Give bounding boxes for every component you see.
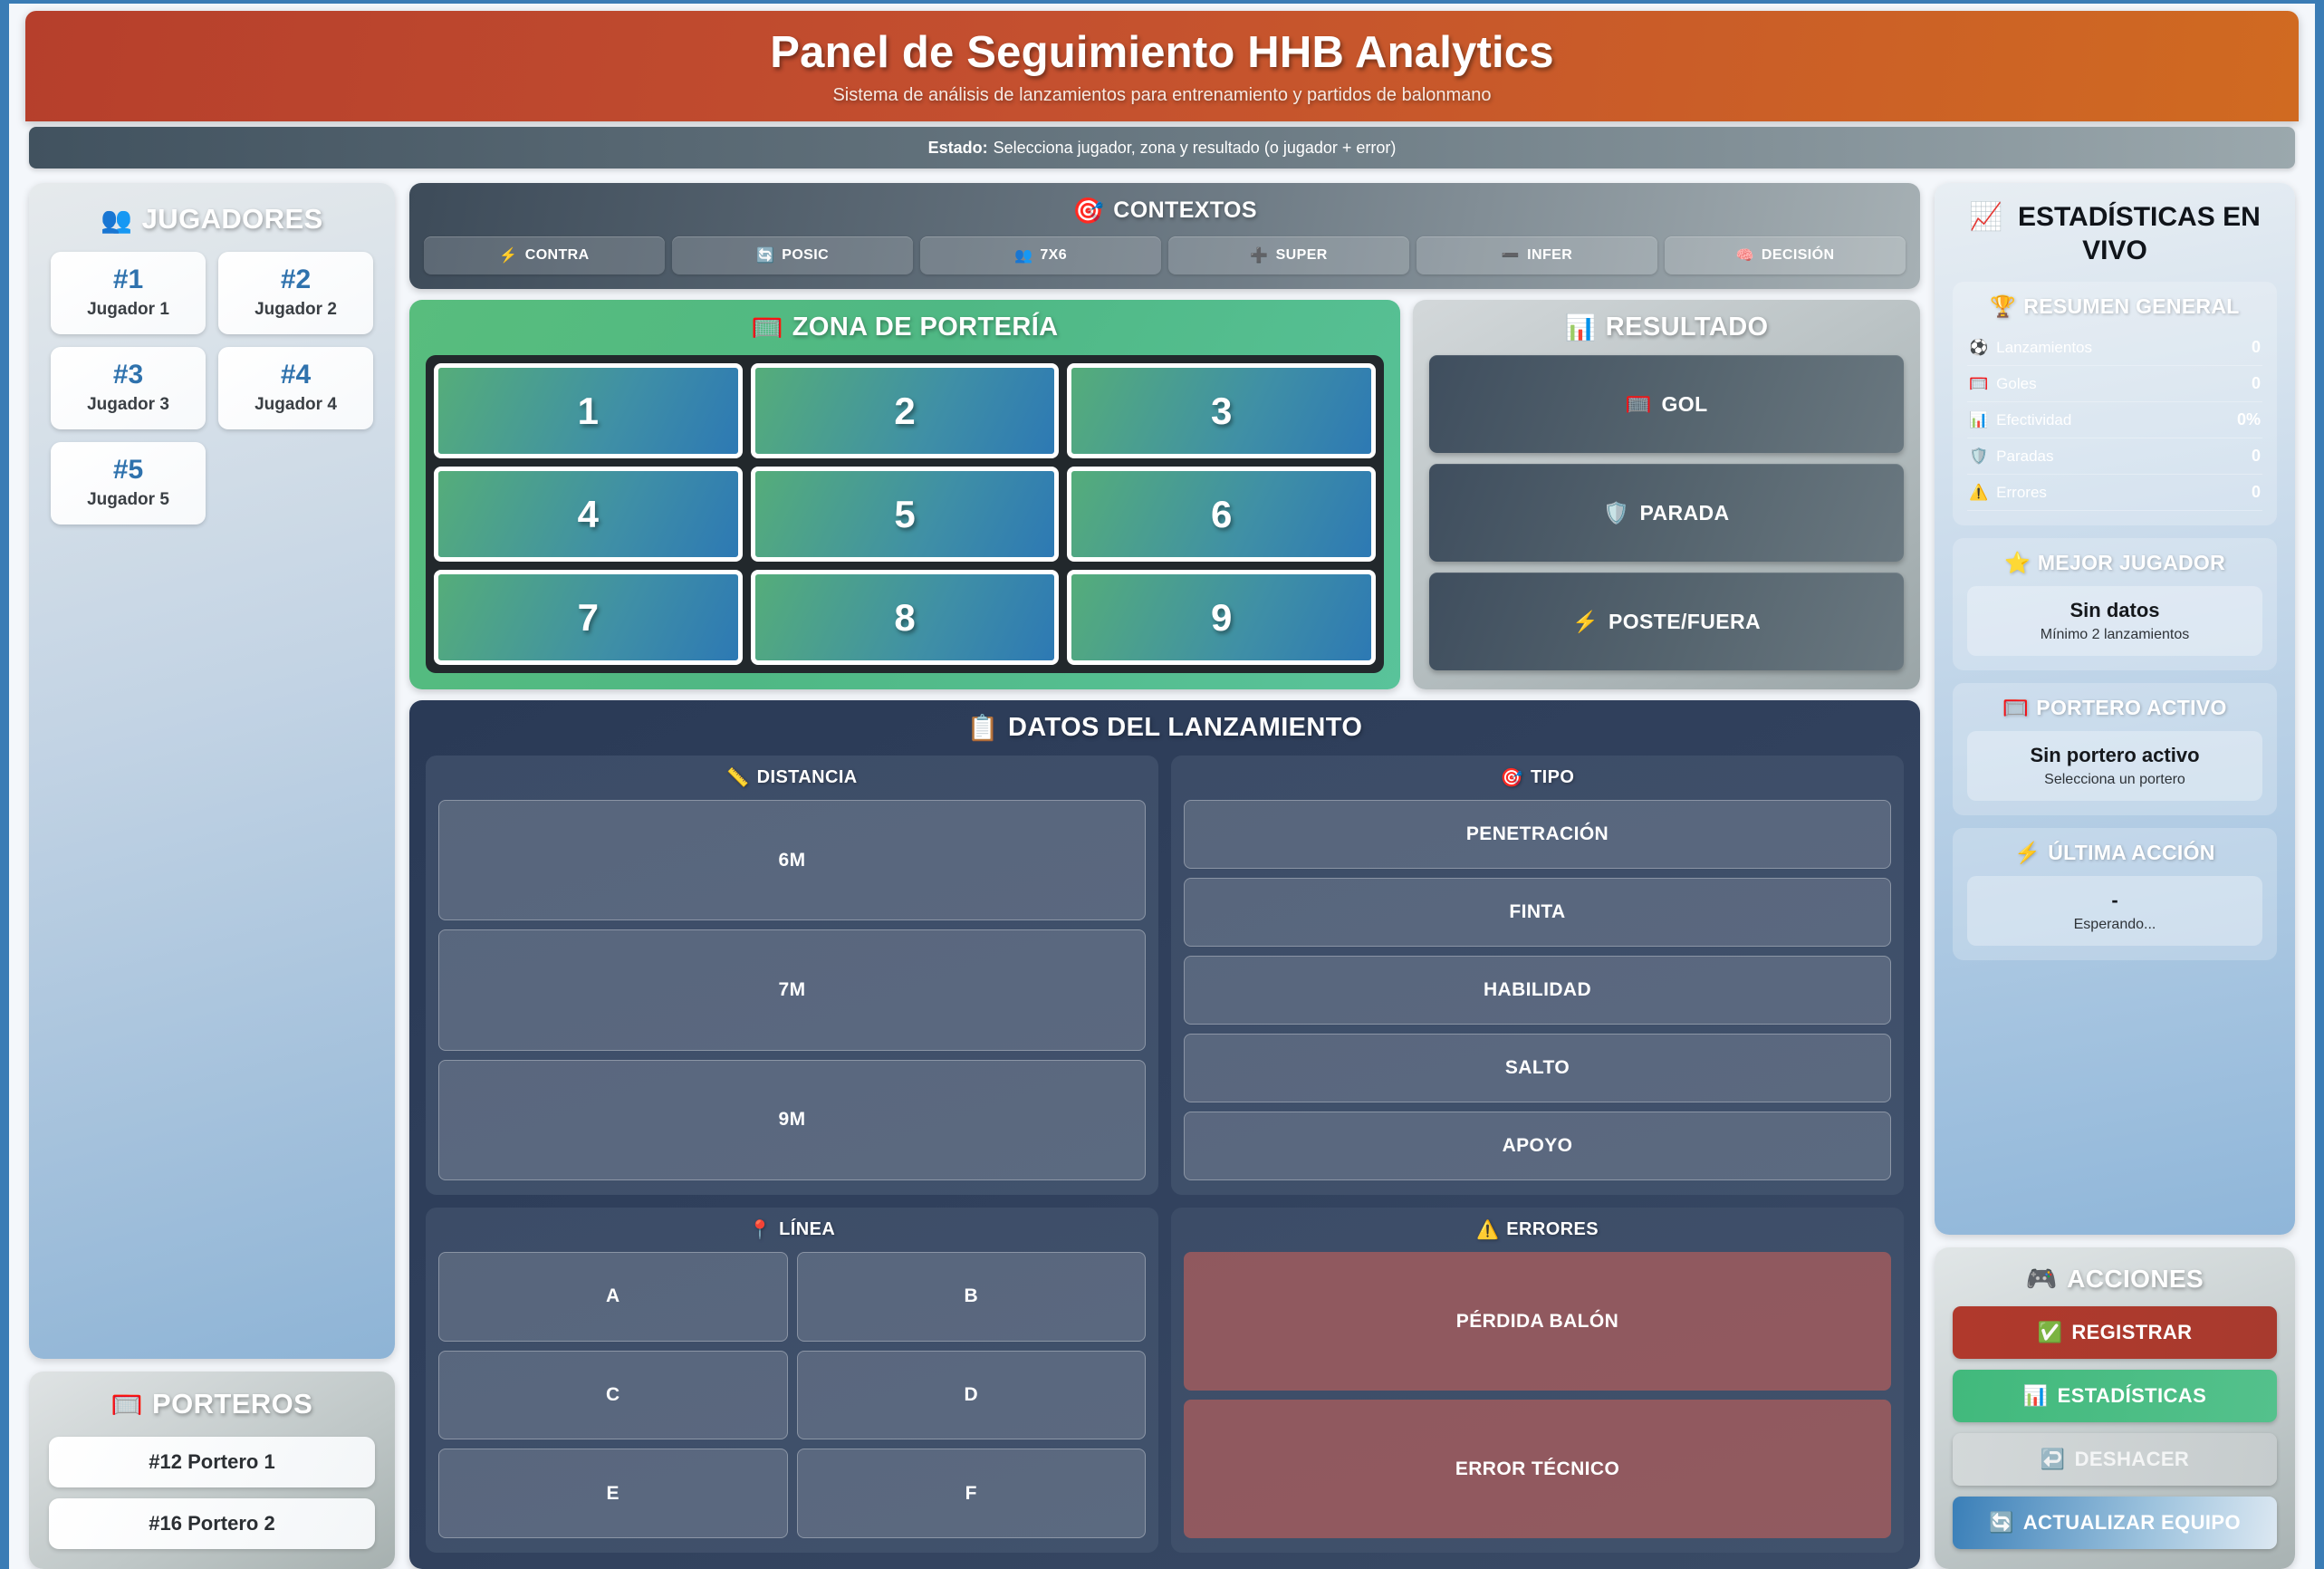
line-option-e[interactable]: E	[438, 1449, 788, 1538]
lightning-icon: ⚡	[1572, 610, 1599, 634]
result-label: PARADA	[1639, 501, 1729, 525]
errors-title-text: ERRORES	[1506, 1219, 1599, 1240]
main-layout: 👥 JUGADORES #1 Jugador 1 #2 Jugador 2 #3…	[9, 168, 2315, 1569]
people-icon: 👥	[101, 205, 132, 235]
players-grid: #1 Jugador 1 #2 Jugador 2 #3 Jugador 3 #…	[51, 252, 373, 525]
zone-cell-1[interactable]: 1	[434, 363, 743, 458]
active-keeper-card: 🥅 PORTERO ACTIVO Sin portero activo Sele…	[1953, 683, 2277, 815]
distance-option-6m[interactable]: 6M	[438, 800, 1146, 920]
keeper-button-2[interactable]: #16 Portero 2	[49, 1498, 375, 1549]
line-option-a[interactable]: A	[438, 1252, 788, 1342]
best-player-main: Sin datos	[1974, 599, 2255, 622]
live-stats-panel: 📈 ESTADÍSTICAS EN VIVO 🏆 RESUMEN GENERAL…	[1935, 183, 2295, 1235]
type-option-apoyo[interactable]: APOYO	[1184, 1112, 1891, 1180]
summary-title-text: RESUMEN GENERAL	[2023, 294, 2239, 319]
goal-grid: 1 2 3 4 5 6 7 8 9	[434, 363, 1376, 665]
app-header: Panel de Seguimiento HHB Analytics Siste…	[25, 11, 2299, 121]
stat-row-paradas: 🛡️ Paradas 0	[1967, 438, 2262, 475]
target-icon: 🎯	[1501, 766, 1523, 789]
undo-icon: ↩️	[2041, 1448, 2066, 1471]
summary-card: 🏆 RESUMEN GENERAL ⚽ Lanzamientos 0 🥅 Gol…	[1953, 282, 2277, 525]
best-player-sub: Mínimo 2 lanzamientos	[1974, 627, 2255, 643]
player-card-3[interactable]: #3 Jugador 3	[51, 347, 206, 429]
refresh-team-label: ACTUALIZAR EQUIPO	[2023, 1511, 2241, 1535]
error-option-perdida-balon[interactable]: PÉRDIDA BALÓN	[1184, 1252, 1891, 1391]
last-action-title-text: ÚLTIMA ACCIÓN	[2048, 841, 2214, 865]
left-sidebar: 👥 JUGADORES #1 Jugador 1 #2 Jugador 2 #3…	[29, 183, 395, 1569]
star-icon: ⭐	[2004, 551, 2031, 575]
gamepad-icon: 🎮	[2026, 1264, 2058, 1294]
players-title-text: JUGADORES	[142, 203, 323, 236]
active-keeper-title-text: PORTERO ACTIVO	[2036, 696, 2226, 720]
minus-icon: ➖	[1502, 246, 1520, 265]
errors-box: ⚠️ ERRORES PÉRDIDA BALÓN ERROR TÉCNICO	[1171, 1208, 1904, 1553]
zone-cell-3[interactable]: 3	[1067, 363, 1376, 458]
shot-data-title-text: DATOS DEL LANZAMIENTO	[1008, 713, 1362, 743]
player-number: #5	[56, 455, 200, 485]
line-box: 📍 LÍNEA A B C D E F	[426, 1208, 1158, 1553]
stat-row-goles: 🥅 Goles 0	[1967, 366, 2262, 402]
context-button-infer[interactable]: ➖ INFER	[1416, 236, 1657, 274]
goal-net-icon: 🥅	[752, 313, 783, 342]
bar-chart-icon: 📊	[1564, 313, 1596, 342]
refresh-icon: 🔄	[756, 246, 774, 265]
context-label: POSIC	[782, 247, 829, 264]
contexts-row: ⚡ CONTRA 🔄 POSIC 👥 7X6 ➕ SUPER ➖ INF	[424, 236, 1906, 274]
stat-row-lanzamientos: ⚽ Lanzamientos 0	[1967, 330, 2262, 366]
active-keeper-value: Sin portero activo Selecciona un portero	[1967, 731, 2262, 801]
zone-cell-8[interactable]: 8	[751, 570, 1060, 665]
goal-net-icon: 🥅	[111, 1390, 143, 1420]
stat-label: Lanzamientos	[1996, 339, 2092, 357]
result-label: POSTE/FUERA	[1609, 610, 1761, 634]
live-stats-title: 📈 ESTADÍSTICAS EN VIVO	[1953, 201, 2277, 267]
type-option-salto[interactable]: SALTO	[1184, 1034, 1891, 1102]
distance-option-9m[interactable]: 9M	[438, 1060, 1146, 1180]
distance-options: 6M 7M 9M	[438, 800, 1146, 1180]
player-name: Jugador 2	[224, 300, 368, 320]
zone-cell-5[interactable]: 5	[751, 467, 1060, 562]
best-player-title: ⭐ MEJOR JUGADOR	[1967, 551, 2262, 575]
last-action-sub: Esperando...	[1974, 917, 2255, 933]
type-title-text: TIPO	[1531, 767, 1574, 788]
refresh-icon: 🔄	[1989, 1511, 2014, 1535]
zone-cell-9[interactable]: 9	[1067, 570, 1376, 665]
distance-option-7m[interactable]: 7M	[438, 929, 1146, 1050]
errors-options: PÉRDIDA BALÓN ERROR TÉCNICO	[1184, 1252, 1891, 1538]
players-panel-title: 👥 JUGADORES	[51, 203, 373, 236]
goal-zone-title: 🥅 ZONA DE PORTERÍA	[426, 313, 1384, 342]
distance-title-text: DISTANCIA	[757, 767, 858, 788]
plus-icon: ➕	[1250, 246, 1268, 265]
best-player-title-text: MEJOR JUGADOR	[2038, 551, 2225, 575]
stat-value: 0%	[2237, 410, 2261, 429]
ball-icon: ⚽	[1969, 339, 1988, 357]
last-action-main: -	[1974, 889, 2255, 912]
stat-label: Efectividad	[1996, 411, 2071, 429]
line-option-b[interactable]: B	[797, 1252, 1147, 1342]
active-keeper-title: 🥅 PORTERO ACTIVO	[1967, 696, 2262, 720]
active-keeper-sub: Selecciona un portero	[1974, 772, 2255, 788]
zone-cell-4[interactable]: 4	[434, 467, 743, 562]
clipboard-icon: 📋	[967, 713, 999, 743]
context-label: 7X6	[1040, 247, 1067, 264]
error-option-error-tecnico[interactable]: ERROR TÉCNICO	[1184, 1400, 1891, 1538]
keepers-panel-title: 🥅 PORTEROS	[49, 1388, 375, 1420]
actions-title: 🎮 ACCIONES	[1953, 1264, 2277, 1294]
player-number: #3	[56, 360, 200, 390]
type-options: PENETRACIÓN FINTA HABILIDAD SALTO APOYO	[1184, 800, 1891, 1180]
goal-zone-panel: 🥅 ZONA DE PORTERÍA 1 2 3 4 5 6 7 8 9	[409, 300, 1400, 689]
distance-box: 📏 DISTANCIA 6M 7M 9M	[426, 756, 1158, 1195]
player-name: Jugador 1	[56, 300, 200, 320]
context-button-7x6[interactable]: 👥 7X6	[920, 236, 1161, 274]
bar-chart-icon: 📊	[1969, 411, 1988, 429]
last-action-value: - Esperando...	[1967, 876, 2262, 946]
line-options: A B C D E F	[438, 1252, 1146, 1538]
result-title: 📊 RESULTADO	[1429, 313, 1904, 342]
result-title-text: RESULTADO	[1606, 313, 1769, 342]
context-label: DECISIÓN	[1762, 247, 1835, 264]
register-button[interactable]: ✅ REGISTRAR	[1953, 1306, 2277, 1359]
player-number: #2	[224, 265, 368, 294]
status-label: Estado:	[928, 139, 988, 158]
player-card-4[interactable]: #4 Jugador 4	[218, 347, 373, 429]
line-option-d[interactable]: D	[797, 1351, 1147, 1440]
player-card-1[interactable]: #1 Jugador 1	[51, 252, 206, 334]
errors-title: ⚠️ ERRORES	[1184, 1218, 1891, 1241]
line-title: 📍 LÍNEA	[438, 1218, 1146, 1241]
type-option-penetracion[interactable]: PENETRACIÓN	[1184, 800, 1891, 869]
status-bar: Estado: Selecciona jugador, zona y resul…	[29, 127, 2295, 168]
context-label: INFER	[1527, 247, 1572, 264]
shield-icon: 🛡️	[1969, 448, 1988, 466]
ruler-icon: 📏	[726, 766, 749, 789]
result-button-parada[interactable]: 🛡️ PARADA	[1429, 464, 1904, 562]
actions-title-text: ACCIONES	[2067, 1265, 2204, 1294]
distance-title: 📏 DISTANCIA	[438, 766, 1146, 789]
player-number: #1	[56, 265, 200, 294]
main-content: 🎯 CONTEXTOS ⚡ CONTRA 🔄 POSIC 👥 7X6 ➕	[409, 183, 1920, 1569]
page-title: Panel de Seguimiento HHB Analytics	[770, 27, 1553, 78]
goal-grid-frame: 1 2 3 4 5 6 7 8 9	[426, 355, 1384, 673]
brain-icon: 🧠	[1736, 246, 1754, 265]
goal-net-icon: 🥅	[1625, 392, 1651, 417]
trophy-icon: 🏆	[1990, 294, 2016, 319]
summary-title: 🏆 RESUMEN GENERAL	[1967, 294, 2262, 319]
result-panel: 📊 RESULTADO 🥅 GOL 🛡️ PARADA ⚡ POSTE/FUER…	[1413, 300, 1920, 689]
context-label: SUPER	[1276, 247, 1328, 264]
undo-button[interactable]: ↩️ DESHACER	[1953, 1433, 2277, 1486]
goal-net-icon: 🥅	[2002, 696, 2029, 720]
active-keeper-main: Sin portero activo	[1974, 744, 2255, 767]
result-button-poste-fuera[interactable]: ⚡ POSTE/FUERA	[1429, 573, 1904, 670]
zone-cell-7[interactable]: 7	[434, 570, 743, 665]
target-icon: 🎯	[1072, 196, 1104, 226]
page-subtitle: Sistema de análisis de lanzamientos para…	[832, 85, 1491, 106]
zone-cell-6[interactable]: 6	[1067, 467, 1376, 562]
stat-value: 0	[2252, 483, 2261, 502]
player-name: Jugador 4	[224, 395, 368, 415]
best-player-card: ⭐ MEJOR JUGADOR Sin datos Mínimo 2 lanza…	[1953, 538, 2277, 670]
bar-chart-icon: 📊	[2023, 1384, 2049, 1408]
context-label: CONTRA	[525, 247, 590, 264]
keeper-button-1[interactable]: #12 Portero 1	[49, 1437, 375, 1487]
stat-value: 0	[2252, 338, 2261, 357]
statistics-label: ESTADÍSTICAS	[2058, 1384, 2207, 1408]
players-panel: 👥 JUGADORES #1 Jugador 1 #2 Jugador 2 #3…	[29, 183, 395, 1359]
stat-row-efectividad: 📊 Efectividad 0%	[1967, 402, 2262, 438]
lightning-icon: ⚡	[2014, 841, 2041, 865]
player-name: Jugador 5	[56, 490, 200, 510]
type-option-finta[interactable]: FINTA	[1184, 878, 1891, 947]
line-option-c[interactable]: C	[438, 1351, 788, 1440]
refresh-team-button[interactable]: 🔄 ACTUALIZAR EQUIPO	[1953, 1497, 2277, 1549]
actions-panel: 🎮 ACCIONES ✅ REGISTRAR 📊 ESTADÍSTICAS ↩️…	[1935, 1247, 2295, 1569]
context-button-contra[interactable]: ⚡ CONTRA	[424, 236, 665, 274]
status-text: Selecciona jugador, zona y resultado (o …	[994, 139, 1397, 158]
warning-icon: ⚠️	[1476, 1218, 1499, 1241]
player-number: #4	[224, 360, 368, 390]
shot-data-title: 📋 DATOS DEL LANZAMIENTO	[426, 713, 1904, 743]
goal-zone-title-text: ZONA DE PORTERÍA	[792, 313, 1059, 342]
goal-and-result-row: 🥅 ZONA DE PORTERÍA 1 2 3 4 5 6 7 8 9	[409, 300, 1920, 689]
people-icon: 👥	[1014, 246, 1032, 265]
type-option-habilidad[interactable]: HABILIDAD	[1184, 956, 1891, 1025]
stat-value: 0	[2252, 374, 2261, 393]
undo-label: DESHACER	[2075, 1448, 2190, 1471]
stat-label: Paradas	[1996, 448, 2053, 466]
chart-up-icon: 📈	[1969, 202, 2002, 232]
stat-row-errores: ⚠️ Errores 0	[1967, 475, 2262, 511]
line-option-f[interactable]: F	[797, 1449, 1147, 1538]
shot-data-panel: 📋 DATOS DEL LANZAMIENTO 📏 DISTANCIA 6M 7…	[409, 700, 1920, 1569]
result-button-gol[interactable]: 🥅 GOL	[1429, 355, 1904, 453]
best-player-value: Sin datos Mínimo 2 lanzamientos	[1967, 586, 2262, 656]
stat-label: Goles	[1996, 375, 2036, 393]
shot-data-grid: 📏 DISTANCIA 6M 7M 9M 🎯 TIPO	[426, 756, 1904, 1553]
stat-value: 0	[2252, 447, 2261, 466]
context-button-decision[interactable]: 🧠 DECISIÓN	[1665, 236, 1906, 274]
lightning-icon: ⚡	[499, 246, 517, 265]
register-label: REGISTRAR	[2071, 1321, 2192, 1344]
check-icon: ✅	[2038, 1321, 2063, 1344]
warning-icon: ⚠️	[1969, 484, 1988, 502]
last-action-card: ⚡ ÚLTIMA ACCIÓN - Esperando...	[1953, 828, 2277, 960]
line-title-text: LÍNEA	[779, 1219, 835, 1240]
goal-net-icon: 🥅	[1969, 375, 1988, 393]
type-box: 🎯 TIPO PENETRACIÓN FINTA HABILIDAD SALTO…	[1171, 756, 1904, 1195]
last-action-title: ⚡ ÚLTIMA ACCIÓN	[1967, 841, 2262, 865]
statistics-button[interactable]: 📊 ESTADÍSTICAS	[1953, 1370, 2277, 1422]
player-card-2[interactable]: #2 Jugador 2	[218, 252, 373, 334]
live-stats-title-text: ESTADÍSTICAS EN VIVO	[2018, 202, 2261, 265]
player-card-5[interactable]: #5 Jugador 5	[51, 442, 206, 525]
result-label: GOL	[1662, 392, 1708, 417]
keepers-title-text: PORTEROS	[152, 1388, 312, 1420]
pin-icon: 📍	[749, 1218, 772, 1241]
contexts-title: 🎯 CONTEXTOS	[424, 196, 1906, 226]
player-name: Jugador 3	[56, 395, 200, 415]
type-title: 🎯 TIPO	[1184, 766, 1891, 789]
stat-label: Errores	[1996, 484, 2047, 502]
context-button-super[interactable]: ➕ SUPER	[1168, 236, 1409, 274]
zone-cell-2[interactable]: 2	[751, 363, 1060, 458]
keepers-panel: 🥅 PORTEROS #12 Portero 1 #16 Portero 2	[29, 1372, 395, 1569]
contexts-title-text: CONTEXTOS	[1113, 197, 1257, 224]
contexts-panel: 🎯 CONTEXTOS ⚡ CONTRA 🔄 POSIC 👥 7X6 ➕	[409, 183, 1920, 289]
shield-icon: 🛡️	[1603, 501, 1629, 525]
context-button-posic[interactable]: 🔄 POSIC	[672, 236, 913, 274]
right-sidebar: 📈 ESTADÍSTICAS EN VIVO 🏆 RESUMEN GENERAL…	[1935, 183, 2295, 1569]
